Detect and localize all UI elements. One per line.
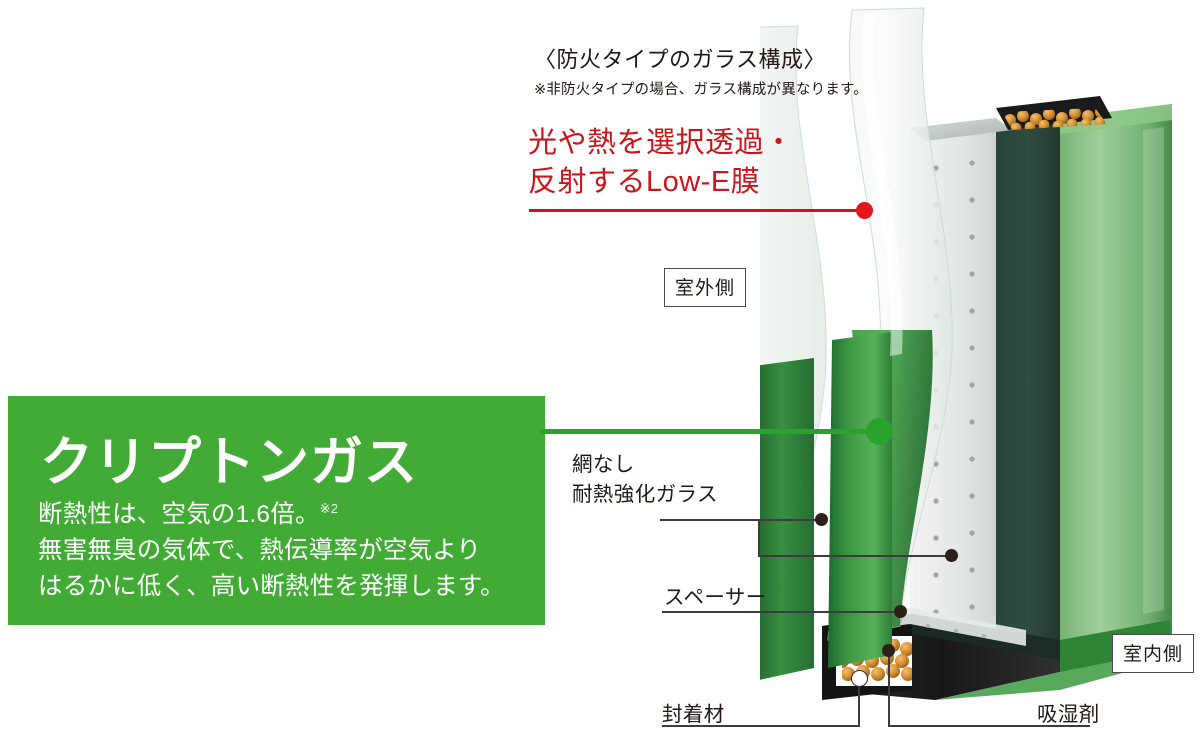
indoor-side-label: 室内側 [1112, 634, 1194, 673]
lowe-leader-dot [856, 202, 873, 219]
lowe-leader-line [529, 209, 866, 212]
spacer-leader-dot [894, 605, 907, 618]
desiccant-leader-v [888, 650, 890, 726]
glass-leader-bracket [758, 519, 760, 556]
glass-leader-dot-lower [945, 549, 958, 562]
spacer-leader-line [662, 611, 901, 613]
glass-leader-dot-upper [815, 513, 828, 526]
krypton-body-line1: 断熱性は、空気の1.6倍。 [38, 501, 320, 528]
desiccant-leader-h [888, 725, 1090, 727]
insulated-glass-illustration [760, 0, 1200, 738]
glass-label-line2: 耐熱強化ガラス [572, 483, 718, 506]
glass-part-label: 網なし 耐熱強化ガラス [572, 450, 718, 509]
figure-heading: 〈防火タイプのガラス構成〉 [534, 42, 826, 74]
lowe-line-1: 光や熱を選択透過・ [528, 127, 794, 159]
krypton-leader-dot [866, 418, 893, 445]
sealant-leader-h [662, 725, 860, 727]
krypton-superscript: ※2 [320, 501, 339, 516]
figure-heading-note: ※非防火タイプの場合、ガラス構成が異なります。 [534, 78, 868, 99]
krypton-body-line3: はるかに低く、高い断熱性を発揮します。 [38, 573, 505, 600]
glass-leader-lower [758, 555, 952, 557]
krypton-body-line2: 無害無臭の気体で、熱伝導率が空気より [38, 537, 481, 564]
sealant-leader-dot [851, 670, 868, 687]
lowe-line-2: 反射するLow-E膜 [528, 166, 760, 198]
indoor-glass-pane [1060, 104, 1172, 672]
sealant-leader-v [858, 681, 860, 726]
outdoor-side-label: 室外側 [664, 268, 746, 307]
krypton-leader-line [540, 429, 876, 434]
spacer-part-label: スペーサー [664, 583, 767, 613]
desiccant-leader-dot [882, 644, 895, 657]
glass-leader-upper [660, 519, 822, 521]
glass-label-line1: 網なし [572, 453, 635, 476]
krypton-body: 断熱性は、空気の1.6倍。※2 無害無臭の気体で、熱伝導率が空気より はるかに低… [38, 497, 505, 605]
krypton-title: クリプトンガス [40, 420, 418, 496]
figure-canvas: 〈防火タイプのガラス構成〉 ※非防火タイプの場合、ガラス構成が異なります。 光や… [0, 0, 1200, 738]
krypton-callout-panel: クリプトンガス 断熱性は、空気の1.6倍。※2 無害無臭の気体で、熱伝導率が空気… [8, 396, 545, 625]
lowe-callout-label: 光や熱を選択透過・ 反射するLow-E膜 [528, 124, 794, 203]
